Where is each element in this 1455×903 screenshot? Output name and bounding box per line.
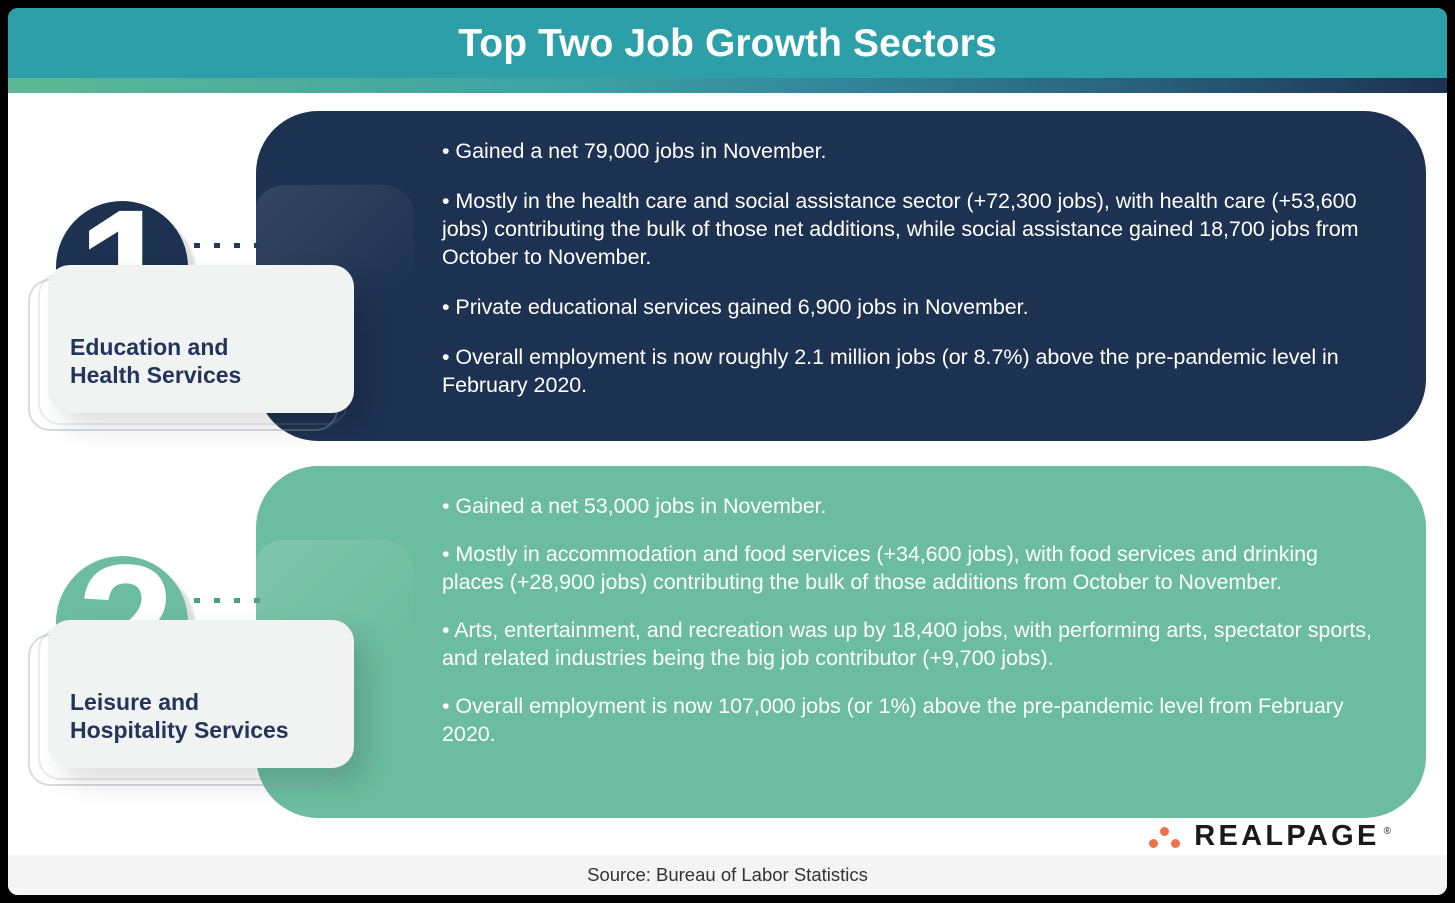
dotted-connector [194, 598, 266, 603]
sector-label-card: Education and Health Services [48, 265, 354, 413]
page-title: Top Two Job Growth Sectors [458, 24, 997, 63]
sector-label-card: Leisure and Hospitality Services [48, 620, 354, 768]
bullet-item: • Overall employment is now 107,000 jobs… [442, 692, 1380, 748]
bullet-item: • Mostly in the health care and social a… [442, 187, 1380, 271]
sector-label-text: Education and Health Services [70, 333, 354, 413]
realpage-dots-icon [1148, 825, 1182, 849]
bullet-item: • Mostly in accommodation and food servi… [442, 540, 1380, 596]
bullet-item: • Gained a net 53,000 jobs in November. [442, 492, 1380, 520]
content-panel: • Gained a net 79,000 jobs in November. … [256, 111, 1426, 441]
bullet-item: • Private educational services gained 6,… [442, 293, 1380, 321]
header-gradient-rule [8, 78, 1447, 93]
content-panel: • Gained a net 53,000 jobs in November. … [256, 466, 1426, 818]
infographic-canvas: Top Two Job Growth Sectors • Gained a ne… [8, 8, 1447, 895]
dotted-connector [194, 243, 266, 248]
footer-bar: Source: Bureau of Labor Statistics [8, 855, 1447, 895]
bullet-item: • Arts, entertainment, and recreation wa… [442, 616, 1380, 672]
realpage-wordmark: REALPAGE [1194, 822, 1379, 851]
infographic-root: Top Two Job Growth Sectors • Gained a ne… [0, 0, 1455, 903]
realpage-logo: REALPAGE ® [1148, 822, 1391, 851]
section-education-health: • Gained a net 79,000 jobs in November. … [8, 93, 1447, 448]
source-attribution: Source: Bureau of Labor Statistics [587, 866, 868, 885]
sector-label-text: Leisure and Hospitality Services [70, 688, 354, 768]
bullet-item: • Overall employment is now roughly 2.1 … [442, 343, 1380, 399]
section-leisure-hospitality: • Gained a net 53,000 jobs in November. … [8, 448, 1447, 828]
bullet-item: • Gained a net 79,000 jobs in November. [442, 137, 1380, 165]
trademark-mark: ® [1384, 826, 1391, 837]
header-bar: Top Two Job Growth Sectors [8, 8, 1447, 78]
